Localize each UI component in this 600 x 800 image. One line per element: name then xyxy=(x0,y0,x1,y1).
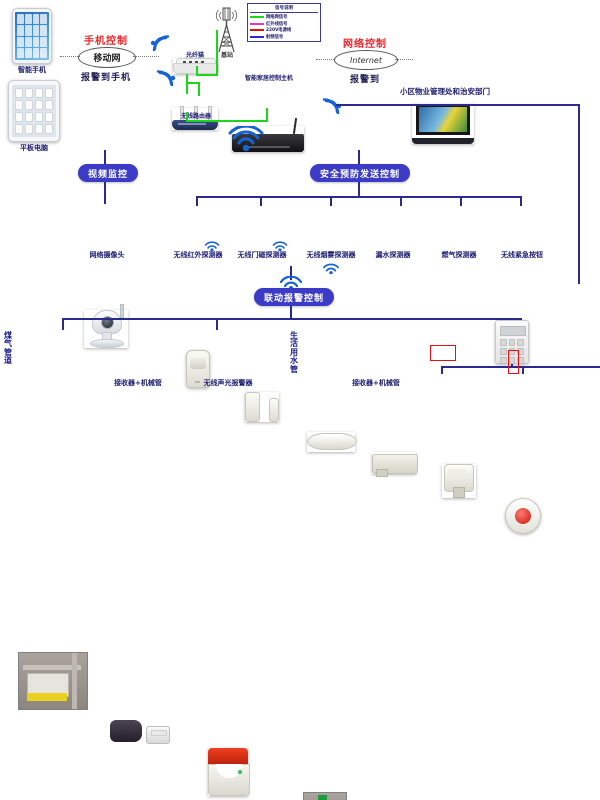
sensor-bus-line xyxy=(196,196,522,198)
video-monitor-label: 视频监控 xyxy=(88,167,128,180)
mobile-network-cloud: 移动网 xyxy=(78,47,136,68)
louvre-highlight-box xyxy=(508,350,519,374)
network-control-title: 网络控制 xyxy=(330,35,400,50)
smartphone-screen xyxy=(15,12,49,60)
mobile-alarm-label: 报警到手机 xyxy=(66,70,146,83)
legend-swatch-power xyxy=(250,29,264,31)
fiber-modem-image xyxy=(173,58,217,74)
smartphone-label: 智能手机 xyxy=(2,67,62,75)
legend-label: 网络网信号 xyxy=(266,14,287,20)
rf-signal-icon xyxy=(322,262,340,274)
laptop-screen xyxy=(419,107,467,132)
tablet-screen xyxy=(12,85,56,137)
sensor-drop-5 xyxy=(460,196,462,206)
legend-item: 网络网信号 xyxy=(250,14,318,20)
gas-valve-label: 接收器+机械管 xyxy=(98,380,178,388)
legend-label: 220V电源线 xyxy=(266,27,291,33)
dotted-link-right xyxy=(133,56,159,57)
legend-swatch-network xyxy=(250,16,264,18)
water-pipe-photo xyxy=(303,792,347,800)
gas-pipe-label: 煤气管道 xyxy=(3,332,13,366)
laptop-image xyxy=(412,104,474,144)
sensor-drop-1 xyxy=(196,196,198,206)
topology-diagram: 信号说明 网络网信号 红外线信号 220V电源线 射频信号 智能手机 平板电脑 … xyxy=(0,0,600,400)
keypad-display xyxy=(500,326,526,336)
wifi-uplink-icon xyxy=(150,33,176,51)
siren-image xyxy=(208,748,248,796)
mobile-control-title: 手机控制 xyxy=(68,32,144,47)
sensor-drop-6 xyxy=(520,196,522,206)
fiber-link-modem-v xyxy=(196,66,198,76)
sensor-label-6: 无线紧急按钮 xyxy=(484,252,560,260)
security-pill-stem xyxy=(358,150,360,164)
smart-home-host-label: 智能家居控制主机 xyxy=(226,76,312,83)
internet-cloud: Internet xyxy=(334,50,398,70)
rf-signal-icon xyxy=(272,240,288,251)
bus-line-right-vert xyxy=(578,104,580,284)
video-monitor-pill[interactable]: 视频监控 xyxy=(78,164,138,182)
legend-item: 220V电源线 xyxy=(250,27,318,33)
bottom-bus-line xyxy=(62,318,522,320)
siren-label: 无线声光报警器 xyxy=(186,380,270,388)
internet-label: Internet xyxy=(350,56,382,65)
gas-detector-icon xyxy=(442,464,476,498)
legend-label: 红外线信号 xyxy=(266,21,287,27)
legend-item: 射频信号 xyxy=(250,34,318,40)
fiber-link-router-a xyxy=(186,74,188,94)
bottom-drop-1 xyxy=(62,318,64,330)
fiber-link-host-b xyxy=(186,120,268,122)
legend-label: 射频信号 xyxy=(266,34,283,40)
management-office-label: 小区物业管理处和治安部门 xyxy=(380,88,510,96)
fiber-link-tower xyxy=(216,30,218,60)
linkage-alarm-pill[interactable]: 联动报警控制 xyxy=(254,288,334,306)
legend-swatch-infrared xyxy=(250,23,264,25)
water-pipe-label: 生活用水管 xyxy=(289,332,299,374)
rf-signal-icon xyxy=(204,240,220,251)
signal-legend: 信号说明 网络网信号 红外线信号 220V电源线 射频信号 xyxy=(247,3,321,42)
sensor-drop-3 xyxy=(330,196,332,206)
video-pill-stem-down xyxy=(104,182,106,204)
dotted-link-inet-left xyxy=(316,59,334,60)
security-control-pill[interactable]: 安全预防发送控制 xyxy=(310,164,410,182)
legend-swatch-rf xyxy=(250,36,264,38)
security-control-label: 安全预防发送控制 xyxy=(320,167,400,180)
keypad-bus-line xyxy=(441,366,600,368)
awning-highlight-box xyxy=(430,345,456,361)
fiber-link-modem xyxy=(196,74,218,76)
fiber-link-router-c xyxy=(186,82,200,84)
laptop-base xyxy=(412,138,474,144)
smartphone-image xyxy=(12,8,52,64)
fiber-link-host-a xyxy=(186,112,188,120)
dotted-link-left xyxy=(60,56,80,57)
video-pill-stem xyxy=(104,150,106,164)
host-broadcast-icon xyxy=(228,126,264,152)
gas-valve-actuator-image xyxy=(110,718,170,752)
legend-title: 信号说明 xyxy=(250,5,318,13)
linkage-pill-stem-down xyxy=(290,306,292,318)
ip-camera-icon xyxy=(84,310,128,348)
door-contact-icon xyxy=(245,392,279,422)
sensor-drop-2 xyxy=(260,196,262,206)
bottom-drop-2 xyxy=(216,318,218,330)
linkage-alarm-label: 联动报警控制 xyxy=(264,291,324,304)
water-valve-label: 接收器+机械管 xyxy=(336,380,416,388)
keypad-drop-1 xyxy=(441,366,443,374)
laptop-lid xyxy=(416,104,470,135)
smoke-detector-icon xyxy=(307,432,355,452)
legend-item: 红外线信号 xyxy=(250,21,318,27)
gas-pipe-photo xyxy=(18,652,88,710)
tablet-image xyxy=(8,80,60,142)
security-pill-stem-down xyxy=(358,182,360,196)
sensor-label-0: 网络摄像头 xyxy=(62,252,152,260)
fiber-link-host-c xyxy=(266,108,268,122)
fiber-link-router-b xyxy=(198,82,200,96)
keypad-drop-2 xyxy=(522,366,524,374)
sensor-label-4: 漏水探测器 xyxy=(357,252,429,260)
dotted-link-inet-right xyxy=(395,59,413,60)
bus-line-top-right xyxy=(336,104,580,106)
network-alarm-label: 报警到 xyxy=(338,72,392,85)
host-antenna xyxy=(293,118,297,134)
emergency-button-icon xyxy=(505,498,541,534)
water-leak-detector-icon xyxy=(372,452,416,474)
sensor-drop-4 xyxy=(400,196,402,206)
tablet-label: 平板电脑 xyxy=(4,145,64,153)
mobile-network-label: 移动网 xyxy=(93,51,120,64)
